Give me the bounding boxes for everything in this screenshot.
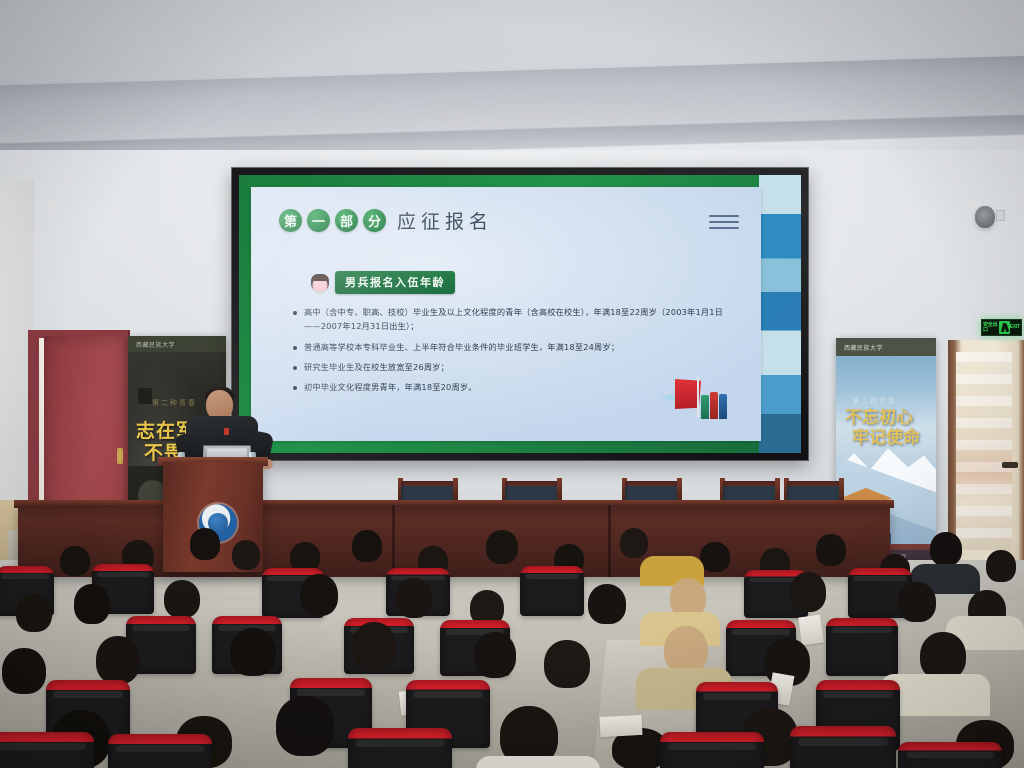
banner-right-subline: 第二种青春 (852, 396, 897, 406)
audience-area (0, 520, 1024, 768)
audience-head (230, 628, 276, 676)
slide-subtitle-badge: 男兵报名入伍年龄 (335, 271, 455, 294)
audience-head (816, 534, 846, 566)
audience-head (544, 640, 590, 688)
audience-head (920, 632, 966, 680)
seat[interactable] (348, 728, 452, 768)
banner-left-university-mark: 西藏民族大学 (136, 340, 175, 349)
banner-right-university-mark: 西藏民族大学 (844, 343, 883, 352)
audience-head (790, 572, 826, 612)
title-chip-1: 第 (279, 209, 302, 232)
slide-subtitle-row: 男兵报名入伍年龄 (311, 271, 455, 294)
handout-paper[interactable] (798, 615, 824, 646)
audience-head (232, 540, 260, 570)
bullet-text: 普通高等学校本专科毕业生、上半年符合毕业条件的毕业班学生，年满18至24周岁； (304, 340, 619, 354)
audience-head (300, 574, 338, 616)
audience-head (276, 696, 334, 756)
slide-photo-edge (759, 175, 801, 453)
banner-left-subline: 第二种青春 (152, 398, 197, 408)
audience-head (352, 622, 396, 670)
audience-head (986, 550, 1016, 582)
audience-head (700, 542, 730, 572)
right-door-handle[interactable] (1002, 462, 1018, 468)
lecture-hall-photo: 安全出口 EXIT 西藏民族大学 第二种青春 志在军营 不畏强敌 西藏民族大学 … (0, 0, 1024, 768)
seat[interactable] (108, 734, 212, 768)
bullet-text: 初中毕业文化程度男青年，年满18至20周岁。 (304, 380, 477, 394)
banner-right-headline-2: 牢记使命 (852, 430, 920, 447)
screen-inner: 第 一 部 分 应征报名 男兵报名入伍年龄 高中（含中专、职高、技校） (239, 175, 801, 453)
title-chip-2: 一 (307, 209, 330, 232)
audience-head (74, 584, 110, 624)
audience-head (2, 648, 46, 694)
audience-head (588, 584, 626, 624)
bullet-dot-icon (293, 311, 297, 315)
slide-title-text: 应征报名 (397, 207, 493, 234)
seat[interactable] (826, 618, 898, 676)
projection-screen[interactable]: 第 一 部 分 应征报名 男兵报名入伍年龄 高中（含中专、职高、技校） (232, 168, 808, 460)
handout-paper[interactable] (600, 715, 643, 737)
audience-head (474, 632, 516, 678)
audience-head (16, 594, 52, 632)
seat[interactable] (0, 732, 94, 768)
red-badge-icon (224, 428, 229, 435)
slide-title: 第 一 部 分 应征报名 (279, 207, 493, 234)
bullet-text: 高中（含中专、职高、技校）毕业生及以上文化程度的青年（含高校在校生），年满18至… (304, 305, 735, 334)
bullet-dot-icon (293, 386, 297, 390)
audience-head (486, 530, 518, 564)
slide-bullet-list: 高中（含中专、职高、技校）毕业生及以上文化程度的青年（含高校在校生），年满18至… (293, 305, 735, 401)
audience-head (60, 546, 90, 576)
hamburger-icon (709, 215, 739, 233)
list-item: 高中（含中专、职高、技校）毕业生及以上文化程度的青年（含高校在校生），年满18至… (293, 305, 735, 334)
slide-content: 第 一 部 分 应征报名 男兵报名入伍年龄 高中（含中专、职高、技校） (251, 187, 761, 441)
audience-head (352, 530, 382, 562)
list-item: 普通高等学校本专科毕业生、上半年符合毕业条件的毕业班学生，年满18至24周岁； (293, 340, 735, 354)
banner-left-graphic (138, 388, 152, 404)
bullet-dot-icon (293, 346, 297, 350)
bullet-dot-icon (293, 366, 297, 370)
seat[interactable] (790, 726, 896, 768)
audience-head (190, 528, 220, 560)
audience-head (164, 580, 200, 618)
audience-shoulders (476, 756, 600, 768)
list-item: 研究生毕业生及在校生放宽至26周岁； (293, 360, 735, 374)
seat[interactable] (898, 742, 1002, 768)
wall-fan-icon (975, 206, 995, 228)
audience-head (898, 582, 936, 622)
audience-head (96, 636, 140, 684)
audience-head (664, 626, 708, 674)
flag-and-soldiers-illustration (675, 377, 733, 419)
exit-sign-right-label: EXIT (1010, 325, 1020, 330)
exit-sign: 安全出口 EXIT (981, 319, 1022, 336)
audience-head (620, 528, 648, 558)
title-chip-4: 分 (363, 209, 386, 232)
running-man-icon (999, 321, 1009, 334)
banner-right-headline-1: 不忘初心 (845, 410, 913, 427)
seat[interactable] (660, 732, 764, 768)
wall-fan-mount (996, 210, 1005, 221)
left-door-handle[interactable] (117, 448, 123, 464)
seat[interactable] (520, 566, 584, 616)
boy-face-icon (311, 274, 329, 292)
exit-sign-left-label: 安全出口 (983, 323, 999, 333)
audience-head (930, 532, 962, 566)
audience-head (396, 578, 432, 618)
bullet-text: 研究生毕业生及在校生放宽至26周岁； (304, 360, 449, 374)
title-chip-3: 部 (335, 209, 358, 232)
